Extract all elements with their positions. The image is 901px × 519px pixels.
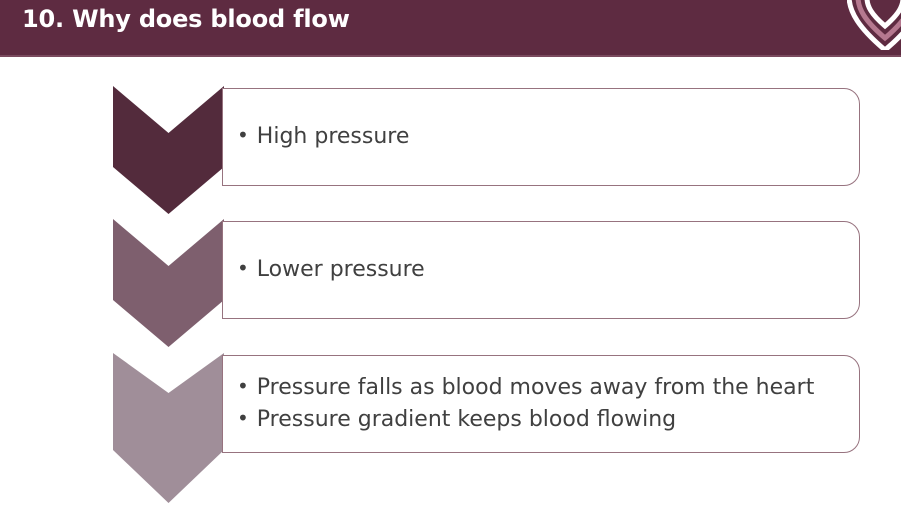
chevron-label-line-2: vessels	[0, 427, 111, 448]
bullet-text: High pressure	[257, 124, 410, 149]
bullet-text: Pressure gradient keeps blood flowing	[257, 407, 676, 432]
content-box-step-1: •High pressure	[222, 88, 860, 186]
chevron-label-step-3: Blood vessels	[0, 406, 111, 447]
slide-header: 10. Why does blood flow	[0, 0, 901, 57]
header-underline	[0, 55, 901, 57]
chevron-label-line-2: contracts	[0, 159, 111, 180]
chevron-label-line-2: vessels	[0, 293, 111, 314]
bullet-text: Lower pressure	[257, 257, 425, 282]
bullet-item: •High pressure	[237, 121, 849, 153]
chevron-label-line-1: Blood	[0, 406, 111, 427]
bullet-text: Pressure falls as blood moves away from …	[257, 375, 815, 400]
bullet-glyph: •	[237, 121, 249, 150]
bullet-list-step-2: •Lower pressure	[223, 254, 859, 286]
chevron-label-step-2: Blood vessels	[0, 272, 111, 313]
chevron-label-line-1: Blood	[0, 272, 111, 293]
bullet-glyph: •	[237, 372, 249, 401]
chevron-label-line-1: Heart	[0, 138, 111, 159]
bullet-item: •Pressure falls as blood moves away from…	[237, 372, 849, 404]
content-box-step-3: •Pressure falls as blood moves away from…	[222, 355, 860, 453]
bullet-item: •Lower pressure	[237, 254, 849, 286]
content-box-step-2: •Lower pressure	[222, 221, 860, 319]
chevron-shape-step-1	[113, 86, 224, 214]
heart-outline-icon	[847, 0, 901, 50]
bullet-item: •Pressure gradient keeps blood flowing	[237, 404, 849, 436]
bullet-glyph: •	[237, 404, 249, 433]
bullet-list-step-3: •Pressure falls as blood moves away from…	[223, 372, 859, 436]
page-title: 10. Why does blood flow	[22, 5, 350, 33]
chevron-label-step-1: Heart contracts	[0, 138, 111, 179]
chevron-shape-step-2	[113, 219, 224, 347]
chevron-shape-step-3	[113, 353, 224, 503]
bullet-list-step-1: •High pressure	[223, 121, 859, 153]
bullet-glyph: •	[237, 254, 249, 283]
